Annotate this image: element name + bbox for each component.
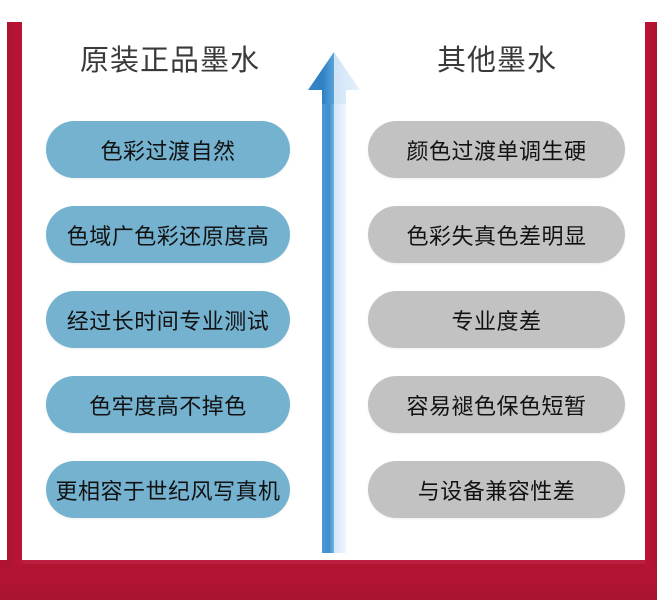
pill-label: 色牢度高不掉色 (89, 389, 247, 421)
original-ink-feature-list: 色彩过渡自然 色域广色彩还原度高 经过长时间专业测试 色牢度高不掉色 更相容于世… (46, 121, 290, 518)
frame-border-right (645, 22, 657, 567)
comparison-diagram: 原装正品墨水 其他墨水 (0, 0, 657, 600)
list-item[interactable]: 色彩失真色差明显 (368, 206, 625, 263)
pill-label: 色域广色彩还原度高 (67, 219, 270, 251)
list-item[interactable]: 与设备兼容性差 (368, 461, 625, 518)
pill-label: 颜色过渡单调生硬 (406, 134, 586, 166)
column-heading-original-ink: 原装正品墨水 (45, 43, 295, 77)
pill-label: 色彩过渡自然 (100, 134, 235, 166)
other-ink-feature-list: 颜色过渡单调生硬 色彩失真色差明显 专业度差 容易褪色保色短暂 与设备兼容性差 (368, 121, 625, 518)
list-item[interactable]: 色彩过渡自然 (46, 121, 290, 178)
list-item[interactable]: 经过长时间专业测试 (46, 291, 290, 348)
pill-label: 经过长时间专业测试 (67, 304, 270, 336)
pill-label: 更相容于世纪风写真机 (55, 474, 280, 506)
list-item[interactable]: 专业度差 (368, 291, 625, 348)
list-item[interactable]: 色域广色彩还原度高 (46, 206, 290, 263)
pill-label: 容易褪色保色短暂 (406, 389, 586, 421)
pill-label: 色彩失真色差明显 (406, 219, 586, 251)
list-item[interactable]: 容易褪色保色短暂 (368, 376, 625, 433)
list-item[interactable]: 颜色过渡单调生硬 (368, 121, 625, 178)
frame-border-bottom-highlight (22, 560, 645, 564)
frame-border-left (7, 22, 22, 567)
list-item[interactable]: 更相容于世纪风写真机 (46, 461, 290, 518)
frame-border-bottom (0, 560, 657, 600)
column-heading-other-ink: 其他墨水 (372, 43, 622, 77)
list-item[interactable]: 色牢度高不掉色 (46, 376, 290, 433)
pill-label: 与设备兼容性差 (418, 474, 576, 506)
pill-label: 专业度差 (451, 304, 541, 336)
